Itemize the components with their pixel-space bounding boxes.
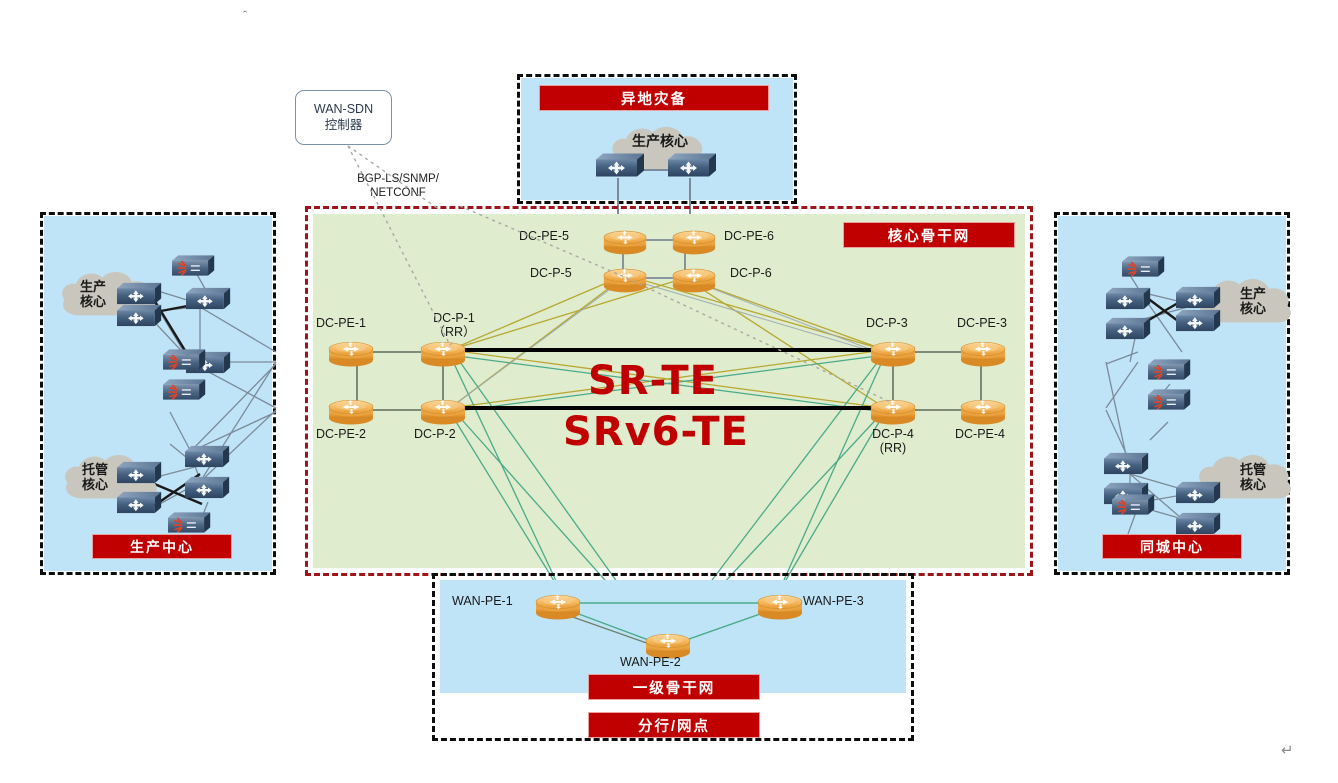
firewall-icon xyxy=(1148,355,1192,384)
switch-icon xyxy=(1106,313,1152,344)
firewall-icon xyxy=(168,508,212,537)
production-core-label-left: 生产 核心 xyxy=(62,280,124,310)
firewall-icon xyxy=(1148,385,1192,414)
switch-icon xyxy=(1176,305,1222,336)
switch-icon xyxy=(1106,283,1152,314)
hosting-core-label-right: 托管 核心 xyxy=(1222,463,1284,493)
router-wan-pe-3[interactable] xyxy=(755,585,805,621)
top-stray-mark: ˆ xyxy=(243,8,247,23)
router-dc-pe-3[interactable] xyxy=(958,332,1008,368)
label-dc-p-2: DC-P-2 xyxy=(414,427,456,441)
switch-icon xyxy=(117,300,163,331)
production-center-caption: 生产中心 xyxy=(92,534,232,559)
switch-icon xyxy=(185,472,231,503)
label-dc-pe-4: DC-PE-4 xyxy=(955,427,1005,441)
control-plane-links xyxy=(290,140,910,420)
label-wan-pe-3: WAN-PE-3 xyxy=(803,594,864,608)
tier1-backbone-caption: 一级骨干网 xyxy=(588,674,760,700)
switch-icon xyxy=(1176,477,1222,508)
firewall-icon xyxy=(163,345,207,374)
firewall-icon xyxy=(1122,252,1166,281)
disaster-recovery-caption: 异地灾备 xyxy=(539,85,769,111)
router-wan-pe-1[interactable] xyxy=(533,585,583,621)
label-wan-pe-1: WAN-PE-1 xyxy=(452,594,513,608)
label-wan-pe-2: WAN-PE-2 xyxy=(620,655,681,669)
production-core-label-right: 生产 核心 xyxy=(1222,287,1284,317)
switch-icon xyxy=(186,283,232,314)
label-dc-pe-3: DC-PE-3 xyxy=(957,316,1007,330)
switch-icon xyxy=(117,457,163,488)
switch-icon xyxy=(117,487,163,518)
controller-line2: 控制器 xyxy=(325,118,363,134)
switch-icon xyxy=(1104,448,1150,479)
switch-icon xyxy=(185,441,231,472)
firewall-icon xyxy=(1112,490,1156,519)
controller-line1: WAN-SDN xyxy=(314,102,373,118)
router-dc-pe-4[interactable] xyxy=(958,390,1008,426)
branch-sites-caption: 分行/网点 xyxy=(588,712,760,738)
label-dc-pe-2: DC-PE-2 xyxy=(316,427,366,441)
label-dc-p-4: DC-P-4 (RR) xyxy=(862,427,924,456)
wan-sdn-controller[interactable]: WAN-SDN 控制器 xyxy=(295,90,392,145)
firewall-icon xyxy=(163,375,207,404)
metro-center-caption: 同城中心 xyxy=(1102,534,1242,559)
network-diagram-canvas: 生产 核心 托管 核心 生产中心 xyxy=(0,0,1338,783)
firewall-icon xyxy=(172,251,216,280)
paragraph-mark: ↵ xyxy=(1281,741,1294,759)
